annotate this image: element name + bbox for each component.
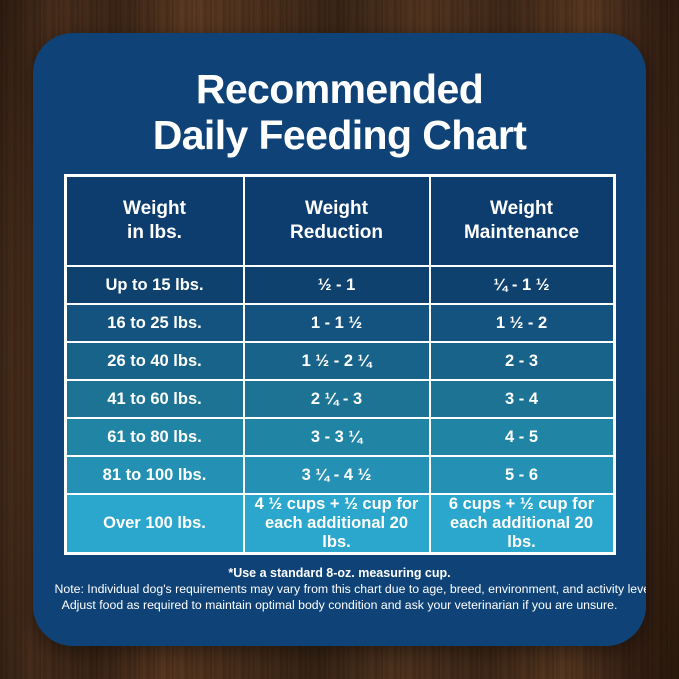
cell-weight: 26 to 40 lbs. [66, 342, 244, 380]
cell-weight: 16 to 25 lbs. [66, 304, 244, 342]
table-row: 61 to 80 lbs. 3 - 3 ¼ 4 - 5 [66, 418, 614, 456]
cell-reduction: 1 ½ - 2 ¼ [244, 342, 430, 380]
column-header-weight-line-2: in lbs. [71, 221, 239, 245]
cell-maintenance: 6 cups + ½ cup for each additional 20 lb… [430, 494, 614, 553]
chart-title-block: Recommended Daily Feeding Chart [33, 33, 646, 158]
cell-weight: 61 to 80 lbs. [66, 418, 244, 456]
column-header-maintenance-line-1: Weight [435, 197, 609, 221]
table-row: 81 to 100 lbs. 3 ¼ - 4 ½ 5 - 6 [66, 456, 614, 494]
table-row: Up to 15 lbs. ½ - 1 ¼ - 1 ½ [66, 266, 614, 304]
footnote-note-line-1: Note: Individual dog's requirements may … [55, 581, 625, 597]
table-row: 41 to 60 lbs. 2 ¼ - 3 3 - 4 [66, 380, 614, 418]
table-body: Up to 15 lbs. ½ - 1 ¼ - 1 ½ 16 to 25 lbs… [66, 266, 614, 553]
cell-weight: Over 100 lbs. [66, 494, 244, 553]
column-header-weight-maintenance: Weight Maintenance [430, 176, 614, 266]
cell-weight: 81 to 100 lbs. [66, 456, 244, 494]
page-title-line-1: Recommended [33, 66, 646, 112]
feeding-chart-table: Weight in lbs. Weight Reduction Weight M… [64, 174, 616, 555]
table-header: Weight in lbs. Weight Reduction Weight M… [66, 176, 614, 266]
table-row: 16 to 25 lbs. 1 - 1 ½ 1 ½ - 2 [66, 304, 614, 342]
cell-maintenance: ¼ - 1 ½ [430, 266, 614, 304]
cell-maintenance: 5 - 6 [430, 456, 614, 494]
column-header-weight: Weight in lbs. [66, 176, 244, 266]
table-header-row: Weight in lbs. Weight Reduction Weight M… [66, 176, 614, 266]
cell-reduction: 4 ½ cups + ½ cup for each additional 20 … [244, 494, 430, 553]
table-row: 26 to 40 lbs. 1 ½ - 2 ¼ 2 - 3 [66, 342, 614, 380]
cell-maintenance: 2 - 3 [430, 342, 614, 380]
page-title-line-2: Daily Feeding Chart [33, 112, 646, 158]
footnote-measuring-cup: *Use a standard 8-oz. measuring cup. [55, 565, 625, 581]
table-row: Over 100 lbs. 4 ½ cups + ½ cup for each … [66, 494, 614, 553]
cell-reduction: ½ - 1 [244, 266, 430, 304]
cell-maintenance: 3 - 4 [430, 380, 614, 418]
column-header-weight-line-1: Weight [71, 197, 239, 221]
cell-reduction: 3 - 3 ¼ [244, 418, 430, 456]
cell-maintenance: 1 ½ - 2 [430, 304, 614, 342]
footnote-note-line-2: Adjust food as required to maintain opti… [55, 597, 625, 613]
feeding-chart-card: Recommended Daily Feeding Chart Weight i… [33, 33, 646, 646]
column-header-weight-reduction: Weight Reduction [244, 176, 430, 266]
column-header-maintenance-line-2: Maintenance [435, 221, 609, 245]
cell-reduction: 1 - 1 ½ [244, 304, 430, 342]
column-header-reduction-line-2: Reduction [249, 221, 425, 245]
footnotes-block: *Use a standard 8-oz. measuring cup. Not… [55, 565, 625, 613]
cell-weight: 41 to 60 lbs. [66, 380, 244, 418]
cell-weight: Up to 15 lbs. [66, 266, 244, 304]
column-header-reduction-line-1: Weight [249, 197, 425, 221]
cell-maintenance: 4 - 5 [430, 418, 614, 456]
cell-reduction: 2 ¼ - 3 [244, 380, 430, 418]
cell-reduction: 3 ¼ - 4 ½ [244, 456, 430, 494]
